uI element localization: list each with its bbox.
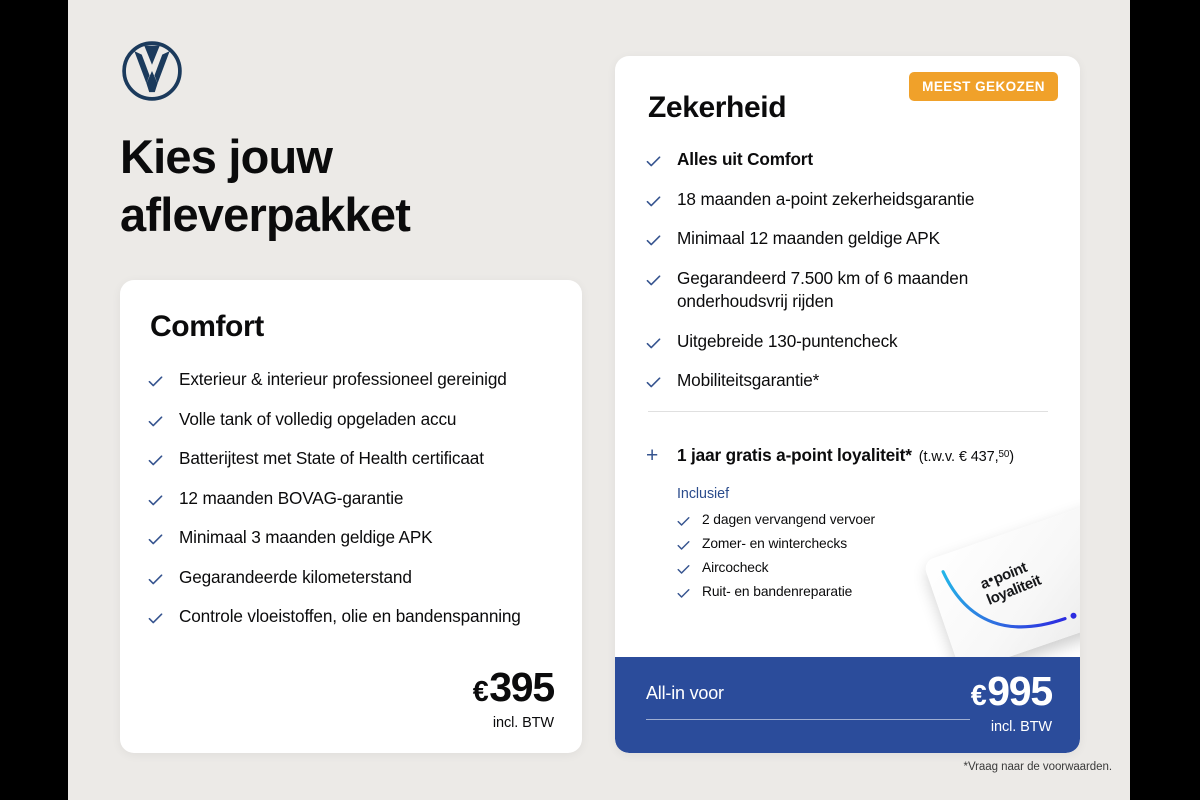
feature-item: 18 maanden a-point zekerheidsgarantie	[646, 188, 1056, 212]
price-block-zekerheid: €995 incl. BTW	[971, 671, 1052, 735]
feature-label: Uitgebreide 130-puntencheck	[677, 330, 898, 354]
feature-label: Exterieur & interieur professioneel gere…	[179, 368, 507, 392]
check-icon	[646, 273, 661, 288]
check-icon	[677, 587, 690, 600]
addon-title: 1 jaar gratis a-point loyaliteit*	[677, 445, 912, 465]
price-note: incl. BTW	[473, 715, 554, 731]
feature-item: 12 maanden BOVAG-garantie	[148, 487, 558, 511]
list-item-label: Ruit- en bandenreparatie	[702, 583, 852, 602]
feature-item: Batterijtest met State of Health certifi…	[148, 447, 558, 471]
volkswagen-logo	[121, 40, 183, 102]
disclaimer-text: *Vraag naar de voorwaarden.	[964, 761, 1112, 773]
headline-line-1: Kies jouw	[120, 128, 600, 186]
check-icon	[646, 194, 661, 209]
feature-label: Gegarandeerd 7.500 km of 6 maanden onder…	[677, 267, 1056, 314]
currency-symbol: €	[473, 676, 488, 708]
feature-item: Gegarandeerde kilometerstand	[148, 566, 558, 590]
feature-item: Gegarandeerd 7.500 km of 6 maanden onder…	[646, 267, 1056, 314]
feature-label: Minimaal 3 maanden geldige APK	[179, 526, 432, 550]
feature-label: 12 maanden BOVAG-garantie	[179, 487, 403, 511]
feature-list-comfort: Exterieur & interieur professioneel gere…	[148, 368, 558, 645]
feature-item: Volle tank of volledig opgeladen accu	[148, 408, 558, 432]
feature-label: Mobiliteitsgarantie*	[677, 369, 819, 393]
section-divider	[648, 411, 1048, 412]
feature-item: Minimaal 3 maanden geldige APK	[148, 526, 558, 550]
addon-header: + 1 jaar gratis a-point loyaliteit*(t.w.…	[646, 444, 1066, 466]
check-icon	[677, 539, 690, 552]
check-icon	[646, 233, 661, 248]
feature-item: Alles uit Comfort	[646, 148, 1056, 172]
package-card-comfort[interactable]: Comfort Exterieur & interieur profession…	[120, 280, 582, 753]
status-badge-most-chosen: MEEST GEKOZEN	[909, 72, 1058, 101]
feature-label: Gegarandeerde kilometerstand	[179, 566, 412, 590]
addon-value-prefix: (t.w.v. € 437,	[919, 449, 999, 465]
feature-label: Batterijtest met State of Health certifi…	[179, 447, 484, 471]
price-footer-zekerheid: All-in voor €995 incl. BTW	[615, 657, 1080, 753]
feature-label: Alles uit Comfort	[677, 148, 813, 172]
feature-item: Mobiliteitsgarantie*	[646, 369, 1056, 393]
check-icon	[646, 154, 661, 169]
feature-item: Minimaal 12 maanden geldige APK	[646, 227, 1056, 251]
letterbox-stage: Kies jouw afleverpakket Comfort Exterieu…	[0, 0, 1200, 800]
list-item-label: Zomer- en winterchecks	[702, 535, 847, 554]
feature-list-zekerheid: Alles uit Comfort 18 maanden a-point zek…	[646, 148, 1056, 409]
package-title-comfort: Comfort	[150, 310, 264, 344]
price-amount: €995	[971, 671, 1052, 712]
package-card-zekerheid[interactable]: MEEST GEKOZEN Zekerheid Alles uit Comfor…	[615, 56, 1080, 753]
check-icon	[148, 374, 163, 389]
check-icon	[148, 453, 163, 468]
feature-label: Volle tank of volledig opgeladen accu	[179, 408, 456, 432]
addon-value: (t.w.v. € 437,50)	[919, 449, 1014, 465]
list-item-label: Aircocheck	[702, 559, 768, 578]
feature-item: Uitgebreide 130-puntencheck	[646, 330, 1056, 354]
addon-inclusief-label: Inclusief	[677, 486, 1066, 502]
feature-label: 18 maanden a-point zekerheidsgarantie	[677, 188, 974, 212]
list-item-label: 2 dagen vervangend vervoer	[702, 511, 875, 530]
check-icon	[677, 515, 690, 528]
check-icon	[148, 572, 163, 587]
check-icon	[646, 336, 661, 351]
price-note: incl. BTW	[971, 719, 1052, 735]
page-title: Kies jouw afleverpakket	[120, 128, 600, 244]
price-value: 395	[489, 664, 554, 710]
feature-item: Exterieur & interieur professioneel gere…	[148, 368, 558, 392]
feature-item: Controle vloeistoffen, olie en bandenspa…	[148, 605, 558, 629]
check-icon	[148, 611, 163, 626]
addon-title-wrap: 1 jaar gratis a-point loyaliteit*(t.w.v.…	[677, 445, 1014, 466]
check-icon	[148, 532, 163, 547]
check-icon	[646, 375, 661, 390]
plus-icon: +	[646, 445, 661, 466]
feature-label: Minimaal 12 maanden geldige APK	[677, 227, 940, 251]
addon-value-suffix: )	[1009, 449, 1014, 465]
addon-value-cents: 50	[999, 449, 1010, 460]
footer-price-label: All-in voor	[646, 683, 724, 704]
poster-canvas: Kies jouw afleverpakket Comfort Exterieu…	[68, 0, 1130, 800]
check-icon	[148, 414, 163, 429]
price-amount: €395	[473, 667, 554, 708]
currency-symbol: €	[971, 680, 986, 712]
check-icon	[148, 493, 163, 508]
check-icon	[677, 563, 690, 576]
feature-label: Controle vloeistoffen, olie en bandenspa…	[179, 605, 521, 629]
footer-rule	[646, 719, 970, 720]
price-value: 995	[987, 668, 1052, 714]
package-title-zekerheid: Zekerheid	[648, 91, 786, 125]
list-item: 2 dagen vervangend vervoer	[677, 511, 1066, 530]
headline-line-2: afleverpakket	[120, 186, 600, 244]
price-block-comfort: €395 incl. BTW	[473, 667, 554, 731]
